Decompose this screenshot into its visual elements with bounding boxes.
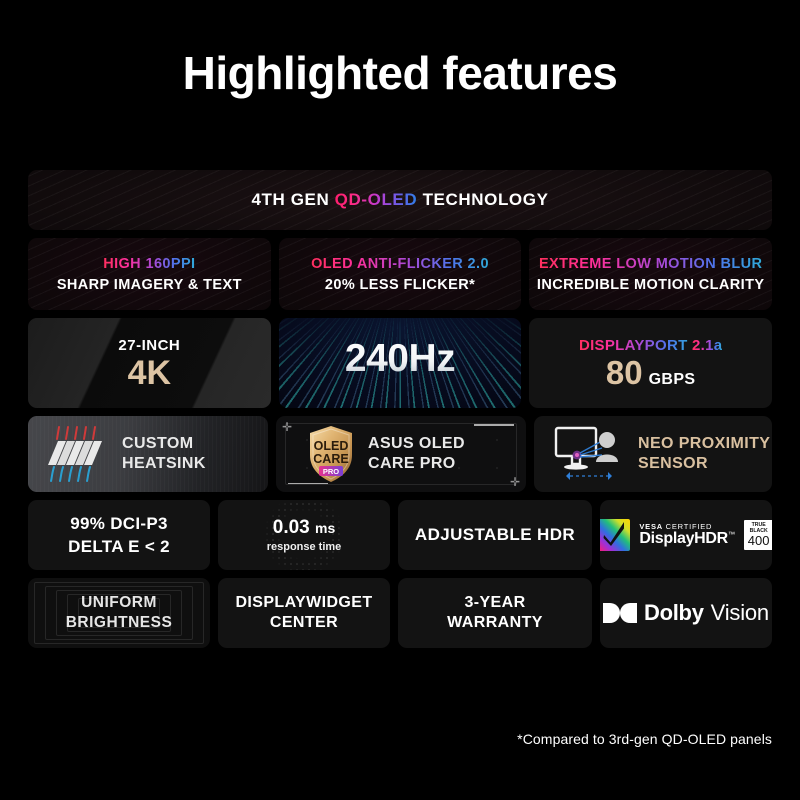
heatsink-line1: CUSTOM bbox=[122, 434, 206, 454]
uniform-line1: UNIFORM bbox=[81, 594, 157, 612]
features-grid: 4TH GEN QD-OLED TECHNOLOGY HIGH 160PPI S… bbox=[28, 170, 772, 656]
feature-row-banner: 4TH GEN QD-OLED TECHNOLOGY bbox=[28, 170, 772, 230]
true-black-400-badge: TRUE BLACK 400 bbox=[744, 520, 772, 550]
banner-suffix: TECHNOLOGY bbox=[417, 190, 548, 209]
tile-headline: EXTREME LOW MOTION BLUR bbox=[539, 256, 762, 272]
tile-displaywidget-center[interactable]: DISPLAYWIDGET CENTER bbox=[218, 578, 390, 648]
vesa-text-block: VESA CERTIFIED DisplayHDR™ bbox=[639, 522, 734, 548]
care-label: ASUS OLED CARE PRO bbox=[368, 434, 465, 475]
tile-extreme-low-motion-blur[interactable]: EXTREME LOW MOTION BLUR INCREDIBLE MOTIO… bbox=[529, 238, 772, 310]
displayport-headline: DISPLAYPORT 2.1a bbox=[579, 337, 722, 354]
proximity-sensor-icon bbox=[552, 424, 624, 484]
banner-text: 4TH GEN QD-OLED TECHNOLOGY bbox=[251, 190, 548, 210]
displayport-version: 2.1a bbox=[692, 337, 722, 354]
concentric-frames-graphic bbox=[28, 578, 210, 648]
corner-plus-icon: ✛ bbox=[510, 476, 520, 488]
tile-uniform-brightness[interactable]: UNIFORM BRIGHTNESS bbox=[28, 578, 210, 648]
widget-line1: DISPLAYWIDGET bbox=[235, 594, 372, 612]
banner-prefix: 4TH GEN bbox=[251, 190, 334, 209]
tile-subtitle: SHARP IMAGERY & TEXT bbox=[57, 277, 242, 293]
warranty-line1: 3-YEAR bbox=[464, 594, 525, 612]
heatsink-fins-icon bbox=[46, 425, 108, 483]
tile-vesa-displayhdr[interactable]: VESA CERTIFIED DisplayHDR™ TRUE BLACK 40… bbox=[600, 500, 772, 570]
response-unit: ms bbox=[315, 520, 335, 536]
tile-subtitle: INCREDIBLE MOTION CLARITY bbox=[537, 277, 765, 293]
tile-custom-heatsink[interactable]: CUSTOM HEATSINK bbox=[28, 416, 268, 492]
feature-row-5: 99% DCI-P3 DELTA E < 2 0.03 ms response … bbox=[28, 500, 772, 570]
uniform-line2: BRIGHTNESS bbox=[66, 614, 173, 632]
highlighted-features-page: Highlighted features 4TH GEN QD-OLED TEC… bbox=[0, 0, 800, 800]
tile-headline: OLED ANTI-FLICKER 2.0 bbox=[311, 256, 489, 272]
neo-label: NEO PROXIMITY SENSOR bbox=[638, 434, 770, 475]
neo-line1: NEO PROXIMITY bbox=[638, 434, 770, 454]
svg-text:PRO: PRO bbox=[323, 467, 339, 476]
displayhdr-text: DisplayHDR bbox=[639, 530, 728, 547]
response-number: 0.03 bbox=[273, 517, 310, 538]
banner-highlight: QD-OLED bbox=[335, 190, 418, 209]
dolby-word: Dolby bbox=[644, 600, 704, 626]
footnote: *Compared to 3rd-gen QD-OLED panels bbox=[517, 731, 772, 747]
corner-plus-icon: ✛ bbox=[282, 421, 292, 433]
tile-high-160ppi[interactable]: HIGH 160PPI SHARP IMAGERY & TEXT bbox=[28, 238, 271, 310]
tile-subtitle: 20% LESS FLICKER* bbox=[325, 277, 475, 293]
care-line2: CARE PRO bbox=[368, 454, 465, 474]
tile-27-inch-4k[interactable]: 27-INCH 4K bbox=[28, 318, 271, 408]
true-black-number: 400 bbox=[748, 534, 770, 547]
oled-care-shield-icon: OLED CARE PRO bbox=[308, 425, 354, 483]
hdr-label: ADJUSTABLE HDR bbox=[415, 525, 575, 545]
warranty-line2: WARRANTY bbox=[447, 614, 543, 632]
gamut-line1: 99% DCI-P3 bbox=[70, 514, 167, 534]
tile-oled-anti-flicker[interactable]: OLED ANTI-FLICKER 2.0 20% LESS FLICKER* bbox=[279, 238, 522, 310]
tile-dolby-vision[interactable]: Dolby Vision bbox=[600, 578, 772, 648]
feature-row-3: 27-INCH 4K 240Hz DISPLAYPORT 2.1a 80 GBP… bbox=[28, 318, 772, 408]
tile-headline: HIGH 160PPI bbox=[103, 256, 195, 272]
heatsink-label: CUSTOM HEATSINK bbox=[122, 434, 206, 475]
displayport-bandwidth: 80 GBPS bbox=[606, 356, 696, 389]
frame-dash bbox=[474, 424, 514, 426]
tile-warranty[interactable]: 3-YEAR WARRANTY bbox=[398, 578, 592, 648]
widget-line2: CENTER bbox=[270, 614, 338, 632]
care-line1: ASUS OLED bbox=[368, 434, 465, 454]
displayhdr-wordmark: DisplayHDR™ bbox=[639, 531, 734, 548]
tile-qd-oled-technology[interactable]: 4TH GEN QD-OLED TECHNOLOGY bbox=[28, 170, 772, 230]
svg-text:CARE: CARE bbox=[313, 452, 348, 466]
tile-color-gamut[interactable]: 99% DCI-P3 DELTA E < 2 bbox=[28, 500, 210, 570]
screen-size-label: 27-INCH bbox=[118, 337, 180, 354]
bandwidth-unit: GBPS bbox=[649, 371, 696, 389]
heatsink-line2: HEATSINK bbox=[122, 454, 206, 474]
gamut-line2: DELTA E < 2 bbox=[68, 537, 170, 557]
dolby-double-d-icon bbox=[603, 602, 637, 624]
refresh-rate-label: 240Hz bbox=[345, 337, 455, 381]
svg-text:OLED: OLED bbox=[314, 439, 349, 453]
neo-line2: SENSOR bbox=[638, 454, 770, 474]
resolution-label: 4K bbox=[128, 356, 171, 390]
vesa-rainbow-check-icon bbox=[600, 519, 630, 551]
trademark-mark: ™ bbox=[728, 532, 735, 539]
page-title: Highlighted features bbox=[0, 46, 800, 100]
tile-240hz[interactable]: 240Hz bbox=[279, 318, 522, 408]
tile-asus-oled-care-pro[interactable]: ✛ ✛ bbox=[276, 416, 526, 492]
tile-response-time[interactable]: 0.03 ms response time bbox=[218, 500, 390, 570]
response-caption: response time bbox=[267, 541, 342, 553]
displayport-name: DISPLAYPORT bbox=[579, 337, 692, 354]
tile-neo-proximity-sensor[interactable]: NEO PROXIMITY SENSOR bbox=[534, 416, 772, 492]
bandwidth-number: 80 bbox=[606, 356, 643, 389]
tile-displayport[interactable]: DISPLAYPORT 2.1a 80 GBPS bbox=[529, 318, 772, 408]
response-value: 0.03 ms bbox=[273, 517, 336, 539]
feature-row-4: CUSTOM HEATSINK ✛ ✛ bbox=[28, 416, 772, 492]
tile-adjustable-hdr[interactable]: ADJUSTABLE HDR bbox=[398, 500, 592, 570]
feature-row-2: HIGH 160PPI SHARP IMAGERY & TEXT OLED AN… bbox=[28, 238, 772, 310]
feature-row-6: UNIFORM BRIGHTNESS DISPLAYWIDGET CENTER … bbox=[28, 578, 772, 648]
vision-word: Vision bbox=[711, 600, 769, 626]
